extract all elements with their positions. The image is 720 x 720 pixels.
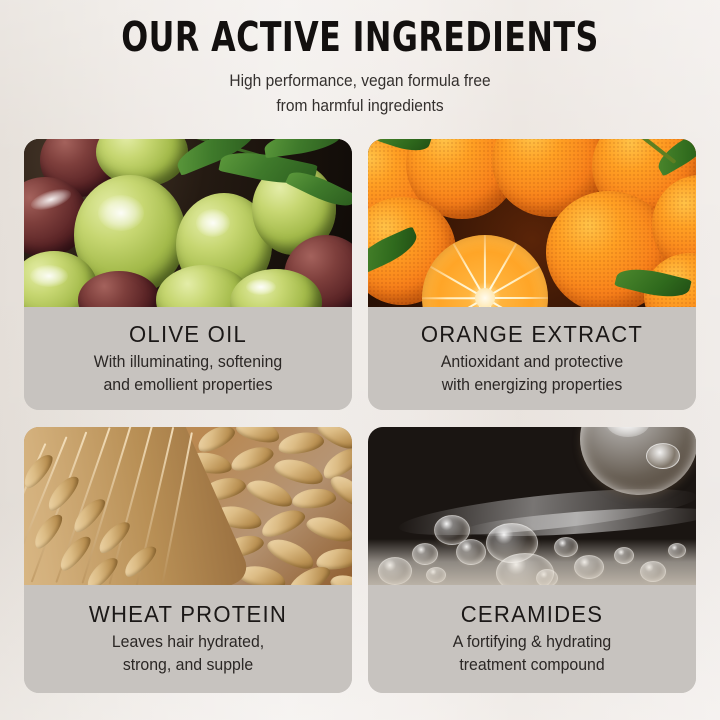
ingredient-card-olive-oil[interactable]: OLIVE OIL With illuminating, softening a… [24,139,352,410]
card-description: Leaves hair hydrated, strong, and supple [31,631,346,677]
wheat-grain-photo [24,427,352,585]
oranges-photo [368,139,696,307]
card-description-line-2: treatment compound [375,654,690,677]
card-caption-wheat-protein: WHEAT PROTEIN Leaves hair hydrated, stro… [24,585,352,693]
olives-photo [24,139,352,307]
card-caption-ceramides: CERAMIDES A fortifying & hydrating treat… [368,585,696,693]
card-description-line-1: With illuminating, softening [31,351,346,374]
header: OUR ACTIVE INGREDIENTS High performance,… [0,14,720,119]
card-description-line-2: strong, and supple [31,654,346,677]
card-description-line-2: and emollient properties [31,374,346,397]
card-description: Antioxidant and protective with energizi… [375,351,690,397]
card-title: WHEAT PROTEIN [31,600,346,628]
ingredient-card-orange-extract[interactable]: ORANGE EXTRACT Antioxidant and protectiv… [368,139,696,410]
ingredient-card-wheat-protein[interactable]: WHEAT PROTEIN Leaves hair hydrated, stro… [24,427,352,693]
card-description: A fortifying & hydrating treatment compo… [375,631,690,677]
card-title: ORANGE EXTRACT [375,320,690,348]
ingredient-card-grid: OLIVE OIL With illuminating, softening a… [24,139,696,693]
olive-leaf [263,139,343,158]
card-title: CERAMIDES [375,600,690,628]
card-caption-olive-oil: OLIVE OIL With illuminating, softening a… [24,307,352,410]
subtitle-line-1: High performance, vegan formula free [22,69,699,94]
page-title: OUR ACTIVE INGREDIENTS [50,14,669,60]
card-description-line-1: Antioxidant and protective [375,351,690,374]
card-description-line-1: A fortifying & hydrating [375,631,690,654]
card-description: With illuminating, softening and emollie… [31,351,346,397]
card-title: OLIVE OIL [31,320,346,348]
ingredient-card-ceramides[interactable]: CERAMIDES A fortifying & hydrating treat… [368,427,696,693]
card-description-line-2: with energizing properties [375,374,690,397]
ingredients-infographic: OUR ACTIVE INGREDIENTS High performance,… [0,0,720,720]
card-description-line-1: Leaves hair hydrated, [31,631,346,654]
card-caption-orange-extract: ORANGE EXTRACT Antioxidant and protectiv… [368,307,696,410]
subtitle-line-2: from harmful ingredients [22,94,699,119]
gel-droplets-photo [368,427,696,585]
page-subtitle: High performance, vegan formula free fro… [22,69,699,119]
